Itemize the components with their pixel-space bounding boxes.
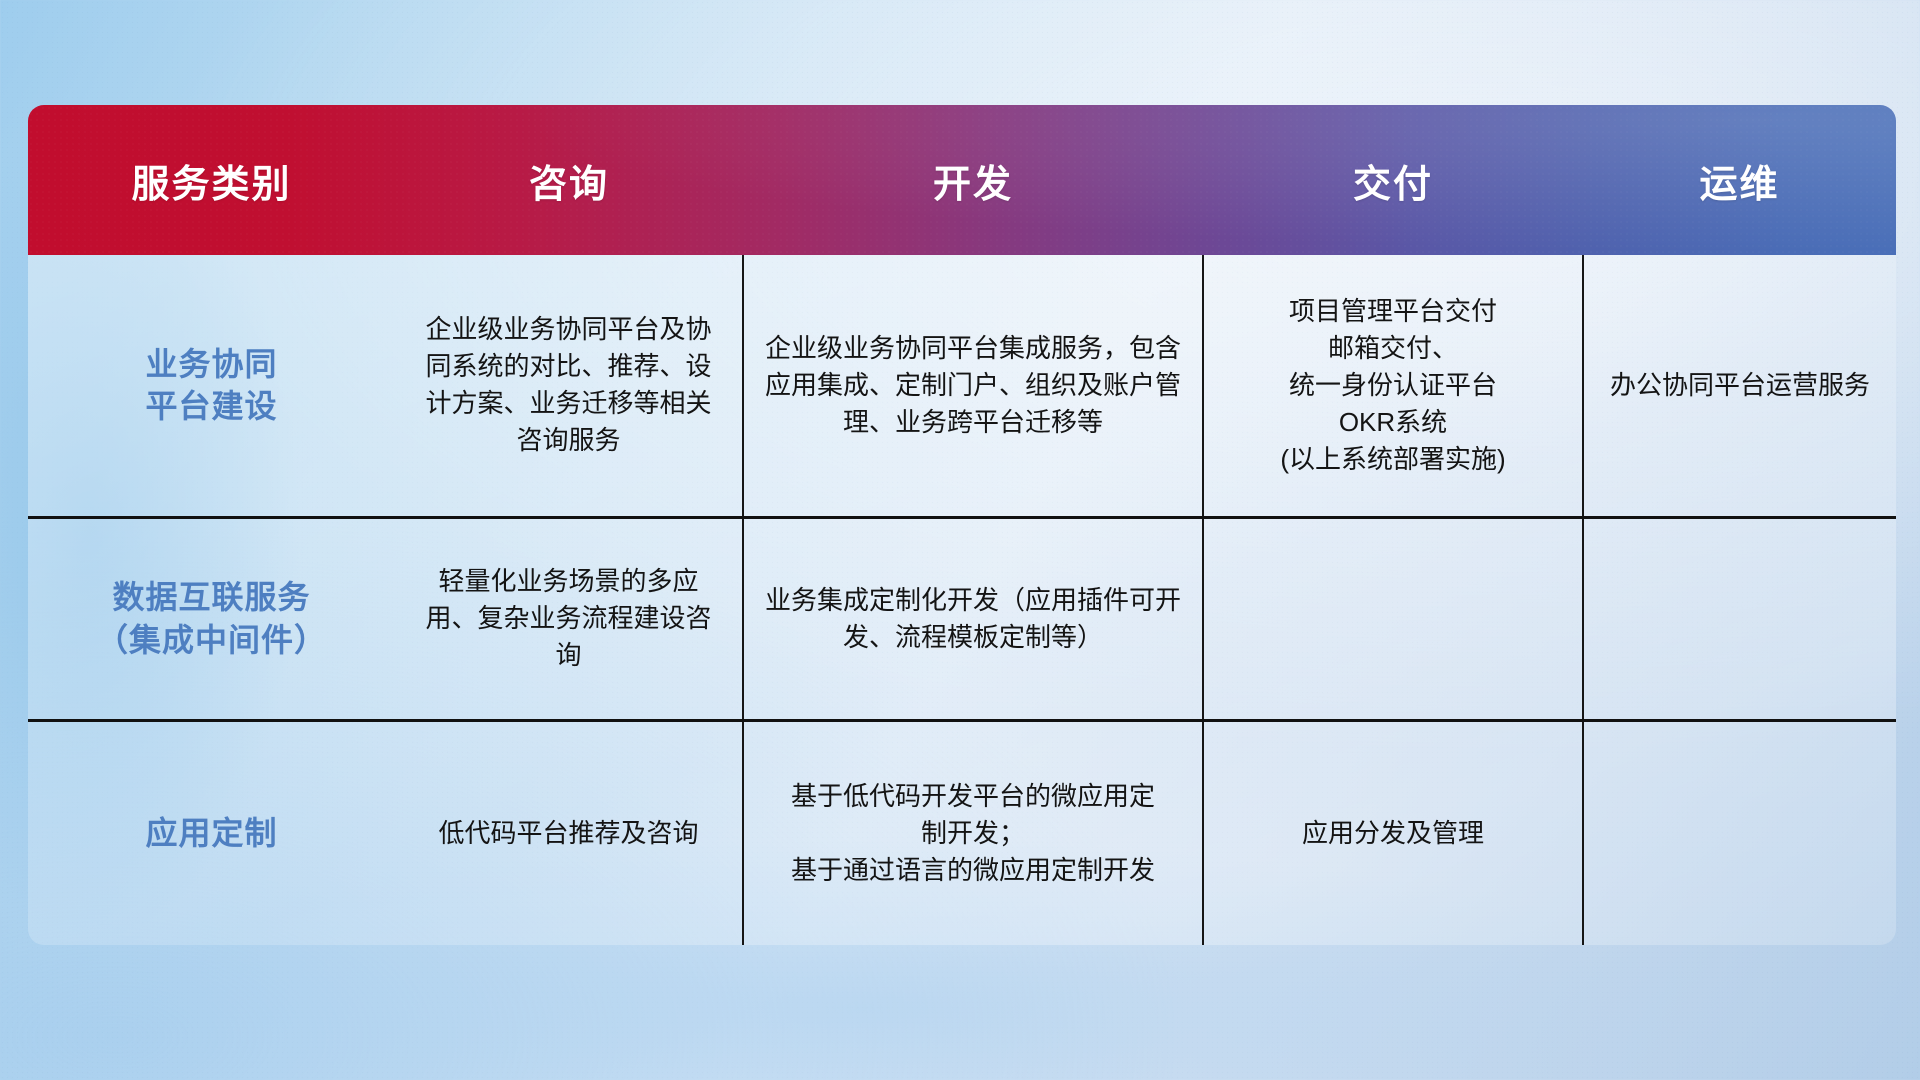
- service-matrix-table: 服务类别 咨询 开发 交付 运维 业务协同 平台建设 企业级业务协同平台及协同系…: [28, 105, 1896, 945]
- cell-delivery: 应用分发及管理: [1203, 720, 1583, 945]
- category-line: （集成中间件）: [48, 619, 375, 661]
- cell-development: 基于低代码开发平台的微应用定 制开发； 基于通过语言的微应用定制开发: [743, 720, 1203, 945]
- development-line: 基于通过语言的微应用定制开发: [764, 852, 1182, 889]
- table-row: 应用定制 低代码平台推荐及咨询 基于低代码开发平台的微应用定 制开发； 基于通过…: [28, 720, 1896, 945]
- row-category-label: 数据互联服务 （集成中间件）: [28, 517, 395, 720]
- development-line: 制开发；: [764, 815, 1182, 852]
- row-category-label: 业务协同 平台建设: [28, 255, 395, 517]
- cell-operations: [1583, 517, 1896, 720]
- cell-development: 业务集成定制化开发（应用插件可开发、流程模板定制等）: [743, 517, 1203, 720]
- cell-consulting: 轻量化业务场景的多应用、复杂业务流程建设咨询: [395, 517, 743, 720]
- cell-operations: [1583, 720, 1896, 945]
- category-line: 应用定制: [48, 812, 375, 854]
- column-header-consulting: 咨询: [395, 105, 743, 255]
- table-row: 数据互联服务 （集成中间件） 轻量化业务场景的多应用、复杂业务流程建设咨询 业务…: [28, 517, 1896, 720]
- cell-operations: 办公协同平台运营服务: [1583, 255, 1896, 517]
- category-line: 业务协同: [48, 343, 375, 385]
- cell-development: 企业级业务协同平台集成服务，包含应用集成、定制门户、组织及账户管理、业务跨平台迁…: [743, 255, 1203, 517]
- cell-consulting: 企业级业务协同平台及协同系统的对比、推荐、设计方案、业务迁移等相关咨询服务: [395, 255, 743, 517]
- delivery-line: OKR系统: [1224, 404, 1562, 441]
- service-matrix-table-container: 服务类别 咨询 开发 交付 运维 业务协同 平台建设 企业级业务协同平台及协同系…: [28, 105, 1896, 945]
- column-header-delivery: 交付: [1203, 105, 1583, 255]
- category-line: 数据互联服务: [48, 576, 375, 618]
- cell-delivery: 项目管理平台交付 邮箱交付、 统一身份认证平台 OKR系统 (以上系统部署实施): [1203, 255, 1583, 517]
- delivery-line: 统一身份认证平台: [1224, 367, 1562, 404]
- table-header-row: 服务类别 咨询 开发 交付 运维: [28, 105, 1896, 255]
- delivery-line: 邮箱交付、: [1224, 330, 1562, 367]
- delivery-line: (以上系统部署实施): [1224, 441, 1562, 478]
- cell-delivery: [1203, 517, 1583, 720]
- cell-consulting: 低代码平台推荐及咨询: [395, 720, 743, 945]
- table-row: 业务协同 平台建设 企业级业务协同平台及协同系统的对比、推荐、设计方案、业务迁移…: [28, 255, 1896, 517]
- column-header-development: 开发: [743, 105, 1203, 255]
- development-line: 基于低代码开发平台的微应用定: [764, 778, 1182, 815]
- row-category-label: 应用定制: [28, 720, 395, 945]
- table-body: 业务协同 平台建设 企业级业务协同平台及协同系统的对比、推荐、设计方案、业务迁移…: [28, 255, 1896, 945]
- column-header-service-category: 服务类别: [28, 105, 395, 255]
- delivery-line: 项目管理平台交付: [1224, 293, 1562, 330]
- table-header: 服务类别 咨询 开发 交付 运维: [28, 105, 1896, 255]
- column-header-operations: 运维: [1583, 105, 1896, 255]
- category-line: 平台建设: [48, 385, 375, 427]
